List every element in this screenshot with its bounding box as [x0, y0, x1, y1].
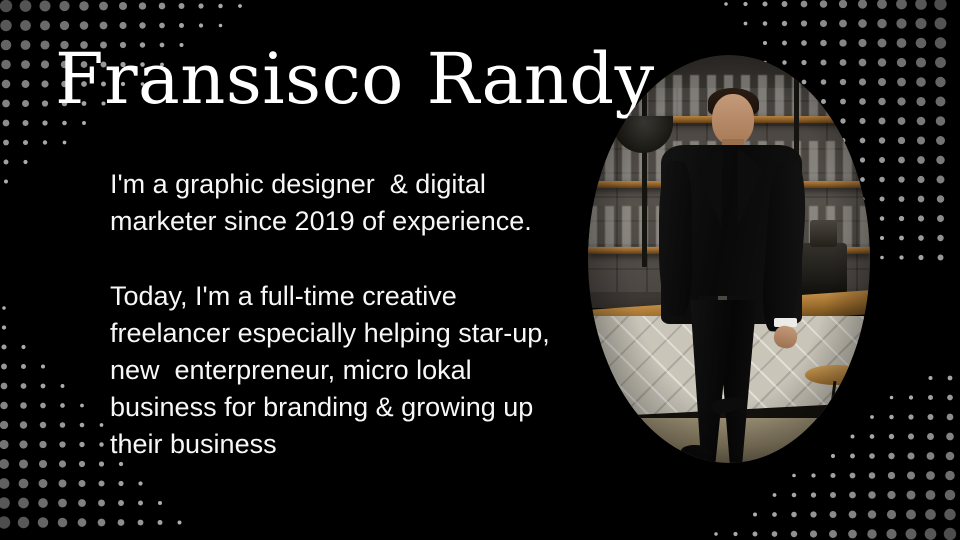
bio-paragraph-2: Today, I'm a full-time creative freelanc…	[110, 278, 550, 463]
portrait-photo	[588, 55, 870, 463]
bio-paragraph-1: I'm a graphic designer & digital markete…	[110, 166, 550, 240]
portrait-vignette	[588, 55, 870, 463]
page-title: Fransisco Randy	[55, 44, 655, 114]
bio-text-block: I'm a graphic designer & digital markete…	[110, 166, 550, 463]
slide-canvas: Fransisco Randy I'm a graphic designer &…	[0, 0, 960, 540]
